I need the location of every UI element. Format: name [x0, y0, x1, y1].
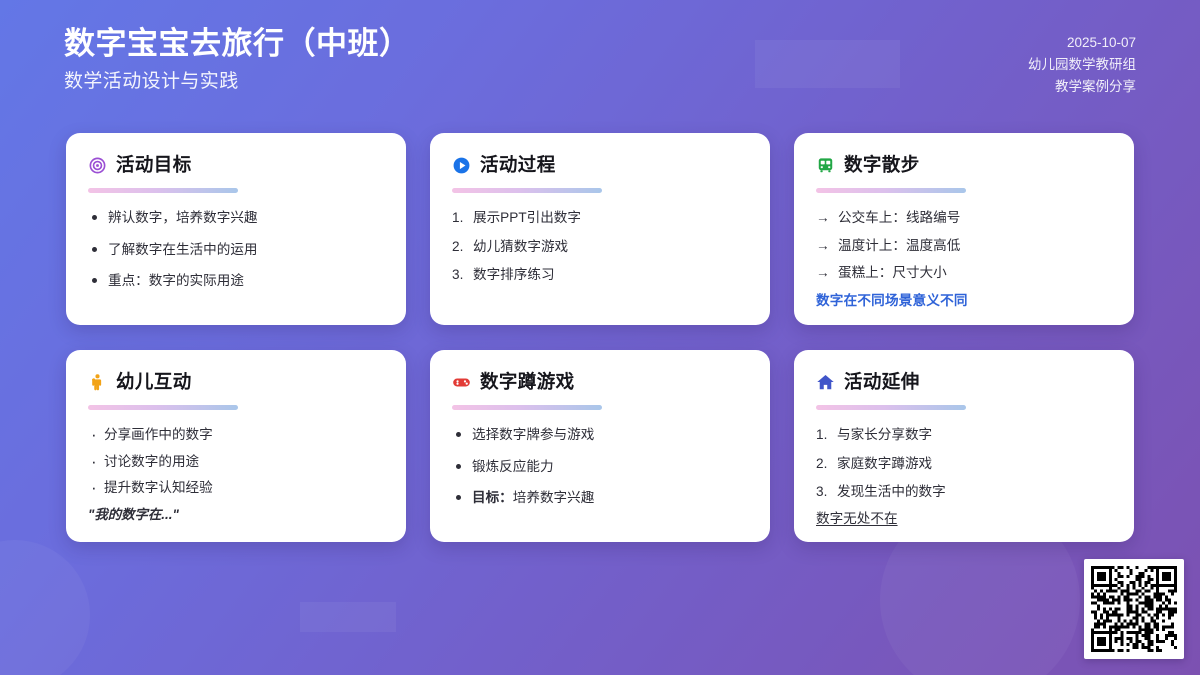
qr-code[interactable] [1084, 559, 1184, 659]
list-item: 提升数字认知经验 [88, 478, 384, 498]
card-list: 选择数字牌参与游戏锻炼反应能力目标：培养数字兴趣 [452, 425, 748, 508]
qr-code-image [1091, 566, 1177, 652]
card-number-walk: 数字散步公交车上：线路编号温度计上：温度高低蛋糕上：尺寸大小数字在不同场景意义不… [794, 133, 1134, 325]
list-item: 辨认数字，培养数字兴趣 [88, 208, 384, 228]
list-item: 发现生活中的数字 [816, 482, 1112, 502]
header-title-group: 数字宝宝去旅行（中班） 数学活动设计与实践 [64, 0, 411, 94]
decorative-rectangle-bottom [300, 602, 396, 632]
card-header: 数字蹲游戏 [452, 369, 748, 395]
card-body: 辨认数字，培养数字兴趣了解数字在生活中的运用重点：数字的实际用途 [88, 208, 384, 291]
card-header: 活动目标 [88, 152, 384, 178]
play-circle-icon [452, 156, 471, 175]
bus-icon [816, 156, 835, 175]
home-icon [816, 373, 835, 392]
card-list: 辨认数字，培养数字兴趣了解数字在生活中的运用重点：数字的实际用途 [88, 208, 384, 291]
decorative-circle-left [0, 540, 90, 675]
meta-date: 2025-10-07 [1028, 32, 1136, 54]
card-note-highlight: 数字在不同场景意义不同 [816, 291, 1112, 311]
list-item-lead: 目标： [472, 490, 513, 505]
card-activity-process: 活动过程展示PPT引出数字幼儿猜数字游戏数字排序练习 [430, 133, 770, 325]
card-title: 数字蹲游戏 [480, 373, 575, 392]
list-item: 讨论数字的用途 [88, 452, 384, 472]
card-header: 活动延伸 [816, 369, 1112, 395]
card-body: 分享画作中的数字讨论数字的用途提升数字认知经验"我的数字在..." [88, 425, 384, 525]
slide-header: 数字宝宝去旅行（中班） 数学活动设计与实践 2025-10-07 幼儿园数学教研… [0, 0, 1200, 122]
list-item: 了解数字在生活中的运用 [88, 240, 384, 260]
card-title: 幼儿互动 [116, 373, 192, 392]
card-accent-bar [452, 188, 602, 193]
list-item: 温度计上：温度高低 [816, 236, 1112, 256]
card-accent-bar [88, 188, 238, 193]
card-grid: 活动目标辨认数字，培养数字兴趣了解数字在生活中的运用重点：数字的实际用途活动过程… [66, 133, 1134, 542]
list-item: 重点：数字的实际用途 [88, 271, 384, 291]
list-item: 与家长分享数字 [816, 425, 1112, 445]
slide-root: 数字宝宝去旅行（中班） 数学活动设计与实践 2025-10-07 幼儿园数学教研… [0, 0, 1200, 675]
card-title: 活动过程 [480, 156, 556, 175]
card-title: 数字散步 [844, 156, 920, 175]
list-item: 幼儿猜数字游戏 [452, 237, 748, 257]
meta-kind: 教学案例分享 [1028, 76, 1136, 98]
list-item: 分享画作中的数字 [88, 425, 384, 445]
card-header: 幼儿互动 [88, 369, 384, 395]
card-activity-extension: 活动延伸与家长分享数字家庭数字蹲游戏发现生活中的数字数字无处不在 [794, 350, 1134, 542]
card-header: 数字散步 [816, 152, 1112, 178]
list-item: 公交车上：线路编号 [816, 208, 1112, 228]
card-body: 选择数字牌参与游戏锻炼反应能力目标：培养数字兴趣 [452, 425, 748, 508]
list-item: 锻炼反应能力 [452, 457, 748, 477]
list-item: 展示PPT引出数字 [452, 208, 748, 228]
list-item-rest: 培养数字兴趣 [513, 490, 595, 505]
card-accent-bar [452, 405, 602, 410]
card-accent-bar [816, 405, 966, 410]
card-title: 活动目标 [116, 156, 192, 175]
child-icon [88, 373, 107, 392]
list-item: 选择数字牌参与游戏 [452, 425, 748, 445]
card-body: 展示PPT引出数字幼儿猜数字游戏数字排序练习 [452, 208, 748, 285]
gamepad-icon [452, 373, 471, 392]
list-item: 数字排序练习 [452, 265, 748, 285]
card-accent-bar [816, 188, 966, 193]
card-child-interaction: 幼儿互动分享画作中的数字讨论数字的用途提升数字认知经验"我的数字在..." [66, 350, 406, 542]
card-header: 活动过程 [452, 152, 748, 178]
list-item: 家庭数字蹲游戏 [816, 454, 1112, 474]
card-accent-bar [88, 405, 238, 410]
card-list: 与家长分享数字家庭数字蹲游戏发现生活中的数字 [816, 425, 1112, 502]
meta-organization: 幼儿园数学教研组 [1028, 54, 1136, 76]
card-body: 公交车上：线路编号温度计上：温度高低蛋糕上：尺寸大小数字在不同场景意义不同 [816, 208, 1112, 311]
card-note-quote: "我的数字在..." [88, 505, 384, 524]
card-title: 活动延伸 [844, 373, 920, 392]
page-title: 数字宝宝去旅行（中班） [64, 25, 411, 64]
card-list: 公交车上：线路编号温度计上：温度高低蛋糕上：尺寸大小 [816, 208, 1112, 283]
card-list: 展示PPT引出数字幼儿猜数字游戏数字排序练习 [452, 208, 748, 285]
page-subtitle: 数学活动设计与实践 [64, 70, 411, 95]
card-activity-goals: 活动目标辨认数字，培养数字兴趣了解数字在生活中的运用重点：数字的实际用途 [66, 133, 406, 325]
header-meta: 2025-10-07 幼儿园数学教研组 教学案例分享 [1028, 0, 1136, 98]
card-list: 分享画作中的数字讨论数字的用途提升数字认知经验 [88, 425, 384, 498]
target-icon [88, 156, 107, 175]
list-item: 目标：培养数字兴趣 [452, 488, 748, 508]
card-number-squat-game: 数字蹲游戏选择数字牌参与游戏锻炼反应能力目标：培养数字兴趣 [430, 350, 770, 542]
card-body: 与家长分享数字家庭数字蹲游戏发现生活中的数字数字无处不在 [816, 425, 1112, 529]
card-note-underline: 数字无处不在 [816, 509, 1112, 529]
list-item: 蛋糕上：尺寸大小 [816, 263, 1112, 283]
